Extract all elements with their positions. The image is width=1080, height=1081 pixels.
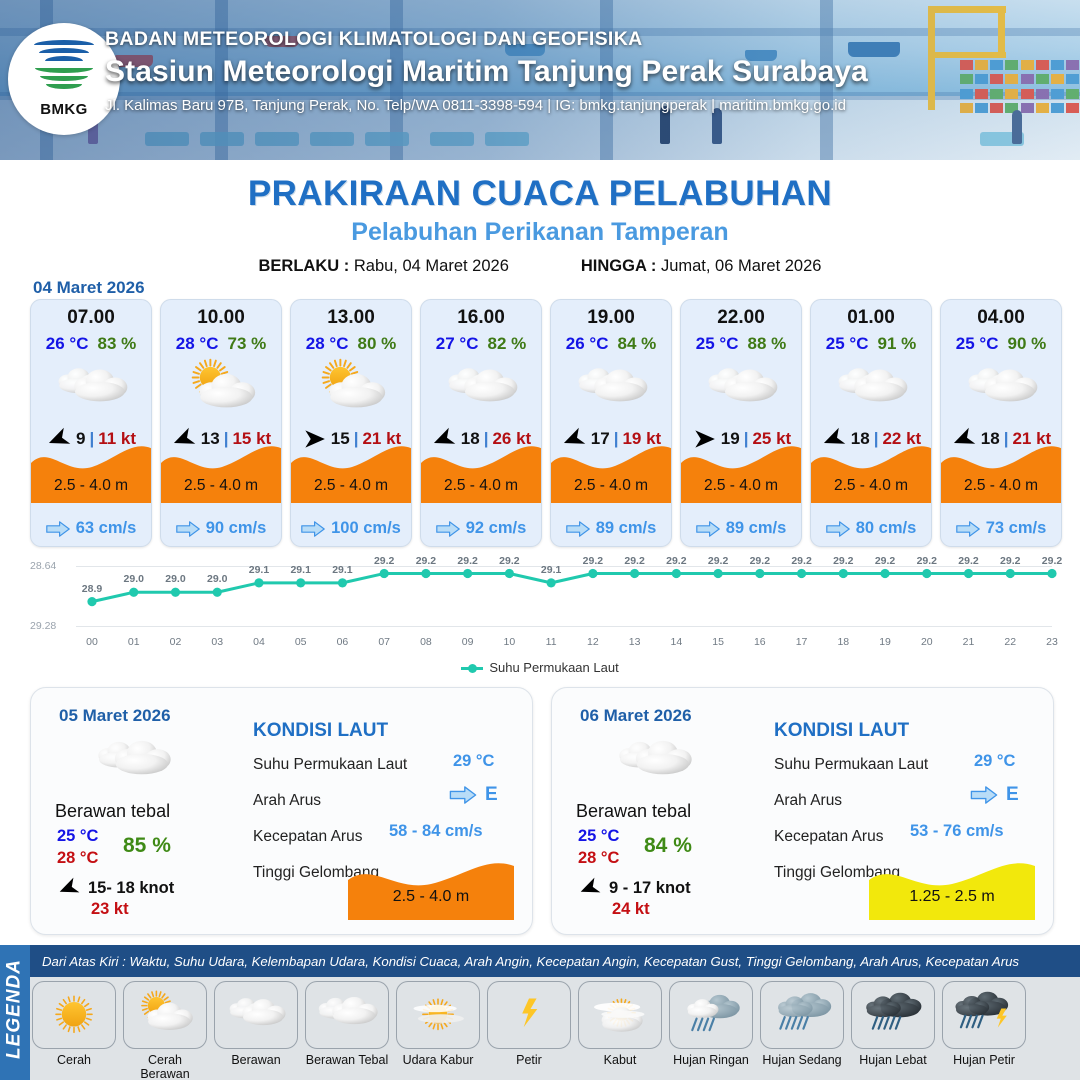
forecast-time: 16.00: [421, 307, 541, 329]
forecast-values: 28 °C73 %: [161, 334, 281, 354]
forecast-time: 01.00: [811, 307, 931, 329]
wind-direction-arrow-icon: [57, 876, 81, 900]
title-section: PRAKIRAAN CUACA PELABUHAN Pelabuhan Peri…: [0, 160, 1080, 276]
legend-line-marker: [461, 667, 483, 670]
panel-current-direction: E: [449, 784, 498, 806]
page-subtitle: Pelabuhan Perikanan Tamperan: [0, 218, 1080, 247]
legend-icon-box: [760, 981, 844, 1049]
panel-wave-height: 2.5 - 4.0 m: [348, 888, 514, 906]
hujan-ringan-weather-icon: [675, 987, 747, 1043]
current-speed: 63 cm/s: [76, 519, 137, 538]
forecast-card[interactable]: 13.0028 °C80 %15|21 kt2.5 - 4.0 m100 cm/…: [290, 299, 412, 547]
current-row: 89 cm/s: [681, 519, 801, 538]
wave-height: 2.5 - 4.0 m: [681, 477, 801, 495]
forecast-values: 27 °C82 %: [421, 334, 541, 354]
sst-data-point: [1006, 569, 1015, 578]
logo-arcs-green: [35, 68, 93, 98]
sst-x-tick: 10: [504, 636, 516, 648]
panel-gust: 23 kt: [91, 900, 129, 919]
panel-temp-min: 25 °C: [57, 827, 98, 846]
udara-kabur-weather-icon: [402, 987, 474, 1043]
sst-line: [92, 574, 1052, 602]
petir-weather-icon: [493, 987, 565, 1043]
sst-point-label: 29.1: [290, 564, 310, 576]
sst-point-label: 29.2: [624, 555, 644, 567]
sst-data-point: [713, 569, 722, 578]
bmkg-logo: BMKG: [8, 23, 120, 135]
legend-item: Cerah Berawan: [123, 981, 207, 1081]
panel-gust: 24 kt: [612, 900, 650, 919]
berawan-weather-icon: [43, 358, 139, 420]
sst-data-point: [338, 578, 347, 587]
berawan-weather-icon: [433, 358, 529, 420]
sst-data-point: [380, 569, 389, 578]
forecast-card[interactable]: 07.0026 °C83 %9|11 kt2.5 - 4.0 m63 cm/s: [30, 299, 152, 547]
legend-tab: LEGENDA: [0, 945, 30, 1080]
legend-item-label: Hujan Petir: [942, 1053, 1026, 1067]
forecast-values: 26 °C84 %: [551, 334, 671, 354]
agency-name: BADAN METEOROLOGI KLIMATOLOGI DAN GEOFIS…: [105, 28, 868, 51]
legend-section: LEGENDA Dari Atas Kiri : Waktu, Suhu Uda…: [0, 945, 1080, 1080]
legend-items: CerahCerah BerawanBerawanBerawan TebalUd…: [32, 981, 1026, 1081]
sst-x-tick: 12: [587, 636, 599, 648]
legend-item-label: Hujan Sedang: [760, 1053, 844, 1067]
sst-data-point: [797, 569, 806, 578]
sst-point-label: 29.1: [249, 564, 269, 576]
weather-condition-icon: [551, 356, 671, 422]
legend-item-label: Berawan: [214, 1053, 298, 1067]
current-speed: 89 cm/s: [596, 519, 657, 538]
sst-x-tick: 19: [879, 636, 891, 648]
station-name: Stasiun Meteorologi Maritim Tanjung Pera…: [105, 55, 868, 89]
current-row: 89 cm/s: [551, 519, 671, 538]
legend-item: Petir: [487, 981, 571, 1081]
panel-row-label: Kecepatan Arus: [774, 828, 883, 846]
panel-condition: Berawan tebal: [55, 801, 170, 822]
panel-row-label: Suhu Permukaan Laut: [774, 756, 928, 774]
legend-item-label: Kabut: [578, 1053, 662, 1067]
forecast-card[interactable]: 04.0025 °C90 %18|21 kt2.5 - 4.0 m73 cm/s: [940, 299, 1062, 547]
panel-sst-value: 29 °C: [974, 752, 1015, 771]
sst-point-label: 29.2: [499, 555, 519, 567]
contact-line: Jl. Kalimas Baru 97B, Tanjung Perak, No.…: [105, 97, 868, 114]
sst-point-label: 28.9: [82, 583, 102, 595]
sst-x-tick: 06: [337, 636, 349, 648]
sst-point-label: 29.2: [750, 555, 770, 567]
panel-humidity: 84 %: [644, 834, 692, 858]
sst-point-label: 29.2: [791, 555, 811, 567]
humidity: 80 %: [357, 334, 396, 354]
cerah-berawan-weather-icon: [303, 358, 399, 420]
sst-x-tick: 22: [1004, 636, 1016, 648]
berawan-weather-icon: [220, 987, 292, 1043]
current-row: 63 cm/s: [31, 519, 151, 538]
sst-data-point: [547, 578, 556, 587]
sst-data-point: [1047, 569, 1056, 578]
panel-row-label: Suhu Permukaan Laut: [253, 756, 407, 774]
sst-x-tick: 14: [671, 636, 683, 648]
sst-data-point: [463, 569, 472, 578]
panel-current-direction: E: [970, 784, 1019, 806]
forecast-day-label: 04 Maret 2026: [33, 278, 145, 298]
panel-wind: 15- 18 knot: [57, 876, 174, 900]
panel-wave-shape: 2.5 - 4.0 m: [348, 858, 514, 920]
panel-date: 06 Maret 2026: [580, 706, 692, 726]
wave-height: 2.5 - 4.0 m: [291, 477, 411, 495]
berawan-weather-icon: [823, 358, 919, 420]
sst-chart-plot: 28.64 29.28 28.929.029.029.029.129.129.1…: [20, 556, 1060, 634]
legend-item: Berawan Tebal: [305, 981, 389, 1081]
forecast-time: 13.00: [291, 307, 411, 329]
panel-temp-max: 28 °C: [578, 849, 619, 868]
current-speed: 90 cm/s: [206, 519, 267, 538]
current-direction-arrow-icon: [436, 521, 460, 537]
sst-point-label: 29.0: [207, 573, 227, 585]
weather-condition-icon: [941, 356, 1061, 422]
wave-height: 2.5 - 4.0 m: [421, 477, 541, 495]
legend-item: Kabut: [578, 981, 662, 1081]
sst-x-tick: 02: [170, 636, 182, 648]
sst-data-point: [254, 578, 263, 587]
current-row: 92 cm/s: [421, 519, 541, 538]
current-speed: 73 cm/s: [986, 519, 1047, 538]
forecast-time: 22.00: [681, 307, 801, 329]
panel-temp-max: 28 °C: [57, 849, 98, 868]
forecast-card[interactable]: 19.0026 °C84 %17|19 kt2.5 - 4.0 m89 cm/s: [550, 299, 672, 547]
daily-summary-panels: 05 Maret 2026Berawan tebal25 °C28 °C85 %…: [30, 687, 1054, 935]
forecast-card[interactable]: 16.0027 °C82 %18|26 kt2.5 - 4.0 m92 cm/s: [420, 299, 542, 547]
sst-x-tick: 11: [546, 636, 557, 648]
berlaku-value: Rabu, 04 Maret 2026: [354, 257, 509, 275]
hujan-sedang-weather-icon: [766, 987, 838, 1043]
sst-x-tick: 01: [128, 636, 140, 648]
air-temperature: 26 °C: [566, 334, 609, 354]
current-row: 80 cm/s: [811, 519, 931, 538]
panel-row-label: Kecepatan Arus: [253, 828, 362, 846]
sst-chart: 28.64 29.28 28.929.029.029.029.129.129.1…: [20, 556, 1060, 686]
panel-row-label: Arah Arus: [253, 792, 321, 810]
legend-item: Hujan Ringan: [669, 981, 753, 1081]
humidity: 73 %: [227, 334, 266, 354]
sst-point-label: 29.2: [833, 555, 853, 567]
air-temperature: 28 °C: [306, 334, 349, 354]
sst-point-label: 29.2: [374, 555, 394, 567]
legend-icon-box: [487, 981, 571, 1049]
legend-item: Hujan Petir: [942, 981, 1026, 1081]
sst-x-tick: 20: [921, 636, 933, 648]
current-direction-arrow-icon: [826, 521, 850, 537]
sst-data-point: [213, 588, 222, 597]
panel-wind-speed: 15- 18 knot: [88, 879, 174, 898]
sst-point-label: 29.2: [875, 555, 895, 567]
cerah-berawan-weather-icon: [129, 987, 201, 1043]
air-temperature: 26 °C: [46, 334, 89, 354]
forecast-values: 25 °C90 %: [941, 334, 1061, 354]
sst-x-tick: 18: [837, 636, 849, 648]
logo-arcs-blue: [34, 40, 94, 66]
current-direction-arrow-icon: [46, 521, 70, 537]
forecast-values: 25 °C88 %: [681, 334, 801, 354]
weather-condition-icon: [31, 356, 151, 422]
sst-x-tick: 13: [629, 636, 641, 648]
forecast-values: 28 °C80 %: [291, 334, 411, 354]
legend-label: Suhu Permukaan Laut: [489, 660, 618, 675]
sst-data-point: [880, 569, 889, 578]
legend-item: Udara Kabur: [396, 981, 480, 1081]
sst-x-tick: 21: [963, 636, 975, 648]
sst-chart-legend: Suhu Permukaan Laut: [20, 660, 1060, 675]
hingga-value: Jumat, 06 Maret 2026: [661, 257, 822, 275]
legend-icon-box: [851, 981, 935, 1049]
current-direction-arrow-icon: [301, 521, 325, 537]
validity-row: BERLAKU : Rabu, 04 Maret 2026 HINGGA : J…: [0, 257, 1080, 276]
wave-height: 2.5 - 4.0 m: [31, 477, 151, 495]
panel-humidity: 85 %: [123, 834, 171, 858]
panel-row-label: Arah Arus: [774, 792, 842, 810]
wave-height: 2.5 - 4.0 m: [811, 477, 931, 495]
wave-height: 2.5 - 4.0 m: [551, 477, 671, 495]
weather-condition-icon: [161, 356, 281, 422]
sst-data-point: [964, 569, 973, 578]
panel-current-speed: 53 - 76 cm/s: [910, 822, 1004, 841]
current-speed: 89 cm/s: [726, 519, 787, 538]
berawan-weather-icon: [693, 358, 789, 420]
sst-data-point: [630, 569, 639, 578]
sst-x-tick: 04: [253, 636, 265, 648]
sst-data-point: [839, 569, 848, 578]
sst-x-tick: 08: [420, 636, 432, 648]
sst-x-tick: 00: [86, 636, 98, 648]
panel-wind: 9 - 17 knot: [578, 876, 691, 900]
legend-icon-box: [396, 981, 480, 1049]
panel-condition: Berawan tebal: [576, 801, 691, 822]
legend-note: Dari Atas Kiri : Waktu, Suhu Udara, Kele…: [30, 945, 1080, 977]
hourly-forecast-strip: 07.0026 °C83 %9|11 kt2.5 - 4.0 m63 cm/s1…: [30, 299, 1062, 547]
legend-icon-box: [578, 981, 662, 1049]
legend-icon-box: [123, 981, 207, 1049]
page-title: PRAKIRAAN CUACA PELABUHAN: [0, 174, 1080, 214]
sst-data-point: [672, 569, 681, 578]
sst-point-label: 29.1: [332, 564, 352, 576]
air-temperature: 25 °C: [956, 334, 999, 354]
forecast-time: 04.00: [941, 307, 1061, 329]
sst-data-point: [922, 569, 931, 578]
weather-condition-icon: [291, 356, 411, 422]
panel-section-title: KONDISI LAUT: [774, 720, 909, 742]
panel-wave-height: 1.25 - 2.5 m: [869, 888, 1035, 906]
panel-wave-shape: 1.25 - 2.5 m: [869, 858, 1035, 920]
humidity: 91 %: [877, 334, 916, 354]
panel-sst-value: 29 °C: [453, 752, 494, 771]
current-direction-arrow-icon: [970, 786, 998, 804]
wind-direction-arrow-icon: [578, 876, 602, 900]
daily-forecast-panel[interactable]: 05 Maret 2026Berawan tebal25 °C28 °C85 %…: [30, 687, 533, 935]
current-row: 90 cm/s: [161, 519, 281, 538]
weather-condition-icon: [681, 356, 801, 422]
forecast-card[interactable]: 01.0025 °C91 %18|22 kt2.5 - 4.0 m80 cm/s: [810, 299, 932, 547]
kabut-weather-icon: [584, 987, 656, 1043]
humidity: 90 %: [1007, 334, 1046, 354]
forecast-time: 19.00: [551, 307, 671, 329]
sst-x-tick: 09: [462, 636, 474, 648]
sst-data-point: [505, 569, 514, 578]
berawan-tebal-weather-icon: [311, 987, 383, 1043]
legend-item: Cerah: [32, 981, 116, 1081]
sst-point-label: 29.1: [541, 564, 561, 576]
forecast-time: 07.00: [31, 307, 151, 329]
sst-x-axis: 0001020304050607080910111213141516171819…: [20, 636, 1060, 654]
logo-text: BMKG: [40, 101, 87, 118]
berawan-weather-icon: [563, 358, 659, 420]
weather-condition-icon: [811, 356, 931, 422]
legend-tab-label: LEGENDA: [4, 942, 26, 1077]
current-direction-arrow-icon: [176, 521, 200, 537]
hingga-group: HINGGA : Jumat, 06 Maret 2026: [581, 257, 822, 276]
sst-x-tick: 05: [295, 636, 307, 648]
hujan-petir-weather-icon: [948, 987, 1020, 1043]
air-temperature: 25 °C: [696, 334, 739, 354]
hingga-label: HINGGA :: [581, 257, 656, 275]
legend-item-label: Cerah Berawan: [123, 1053, 207, 1081]
wave-height: 2.5 - 4.0 m: [941, 477, 1061, 495]
sst-data-point: [87, 597, 96, 606]
sst-x-tick: 03: [211, 636, 223, 648]
legend-icon-box: [32, 981, 116, 1049]
sst-point-label: 29.2: [1042, 555, 1062, 567]
forecast-values: 25 °C91 %: [811, 334, 931, 354]
cerah-weather-icon: [38, 987, 110, 1043]
header-text-block: BADAN METEOROLOGI KLIMATOLOGI DAN GEOFIS…: [105, 28, 868, 114]
forecast-time: 10.00: [161, 307, 281, 329]
legend-item: Hujan Sedang: [760, 981, 844, 1081]
panel-weather-icon: [604, 732, 704, 794]
sst-data-point: [588, 569, 597, 578]
current-direction-arrow-icon: [449, 786, 477, 804]
berawan-tebal-weather-icon: [83, 732, 183, 794]
sst-x-tick: 17: [796, 636, 808, 648]
panel-current-dir-value: E: [485, 784, 498, 806]
humidity: 84 %: [617, 334, 656, 354]
berawan-tebal-weather-icon: [604, 732, 704, 794]
sst-data-point: [129, 588, 138, 597]
cerah-berawan-weather-icon: [173, 358, 269, 420]
current-direction-arrow-icon: [696, 521, 720, 537]
legend-item-label: Udara Kabur: [396, 1053, 480, 1067]
sst-point-label: 29.2: [416, 555, 436, 567]
weather-infographic: BMKG BADAN METEOROLOGI KLIMATOLOGI DAN G…: [0, 0, 1080, 1080]
legend-item-label: Petir: [487, 1053, 571, 1067]
wave-height: 2.5 - 4.0 m: [161, 477, 281, 495]
current-row: 100 cm/s: [291, 519, 411, 538]
sst-point-label: 29.2: [666, 555, 686, 567]
legend-item-label: Hujan Ringan: [669, 1053, 753, 1067]
sst-point-label: 29.0: [165, 573, 185, 585]
sst-point-label: 29.2: [457, 555, 477, 567]
forecast-card[interactable]: 10.0028 °C73 %13|15 kt2.5 - 4.0 m90 cm/s: [160, 299, 282, 547]
panel-current-speed: 58 - 84 cm/s: [389, 822, 483, 841]
panel-current-dir-value: E: [1006, 784, 1019, 806]
legend-item-label: Berawan Tebal: [305, 1053, 389, 1067]
legend-item-label: Cerah: [32, 1053, 116, 1067]
sst-data-point: [171, 588, 180, 597]
legend-icon-box: [942, 981, 1026, 1049]
forecast-card[interactable]: 22.0025 °C88 %19|25 kt2.5 - 4.0 m89 cm/s: [680, 299, 802, 547]
header-banner: BMKG BADAN METEOROLOGI KLIMATOLOGI DAN G…: [0, 0, 1080, 160]
legend-icon-box: [305, 981, 389, 1049]
legend-icon-box: [214, 981, 298, 1049]
panel-wind-speed: 9 - 17 knot: [609, 879, 691, 898]
current-speed: 92 cm/s: [466, 519, 527, 538]
legend-icon-box: [669, 981, 753, 1049]
legend-item: Berawan: [214, 981, 298, 1081]
sst-point-label: 29.2: [708, 555, 728, 567]
legend-item-label: Hujan Lebat: [851, 1053, 935, 1067]
sst-point-label: 29.2: [1000, 555, 1020, 567]
sst-x-tick: 07: [378, 636, 390, 648]
panel-section-title: KONDISI LAUT: [253, 720, 388, 742]
sst-point-label: 29.2: [583, 555, 603, 567]
current-speed: 100 cm/s: [331, 519, 401, 538]
panel-date: 05 Maret 2026: [59, 706, 171, 726]
air-temperature: 28 °C: [176, 334, 219, 354]
sst-x-tick: 15: [712, 636, 724, 648]
current-speed: 80 cm/s: [856, 519, 917, 538]
panel-temp-min: 25 °C: [578, 827, 619, 846]
sst-x-tick: 23: [1046, 636, 1058, 648]
berawan-weather-icon: [953, 358, 1049, 420]
air-temperature: 25 °C: [826, 334, 869, 354]
current-row: 73 cm/s: [941, 519, 1061, 538]
hujan-lebat-weather-icon: [857, 987, 929, 1043]
daily-forecast-panel[interactable]: 06 Maret 2026Berawan tebal25 °C28 °C84 %…: [551, 687, 1054, 935]
berlaku-label: BERLAKU :: [259, 257, 350, 275]
humidity: 82 %: [487, 334, 526, 354]
current-direction-arrow-icon: [956, 521, 980, 537]
sst-x-tick: 16: [754, 636, 766, 648]
sst-point-label: 29.2: [958, 555, 978, 567]
humidity: 88 %: [747, 334, 786, 354]
berlaku-group: BERLAKU : Rabu, 04 Maret 2026: [259, 257, 509, 276]
sst-data-point: [296, 578, 305, 587]
sst-point-label: 29.0: [124, 573, 144, 585]
sst-data-point: [755, 569, 764, 578]
current-direction-arrow-icon: [566, 521, 590, 537]
humidity: 83 %: [97, 334, 136, 354]
weather-condition-icon: [421, 356, 541, 422]
forecast-values: 26 °C83 %: [31, 334, 151, 354]
legend-item: Hujan Lebat: [851, 981, 935, 1081]
air-temperature: 27 °C: [436, 334, 479, 354]
sst-data-point: [421, 569, 430, 578]
sst-point-label: 29.2: [917, 555, 937, 567]
panel-weather-icon: [83, 732, 183, 794]
